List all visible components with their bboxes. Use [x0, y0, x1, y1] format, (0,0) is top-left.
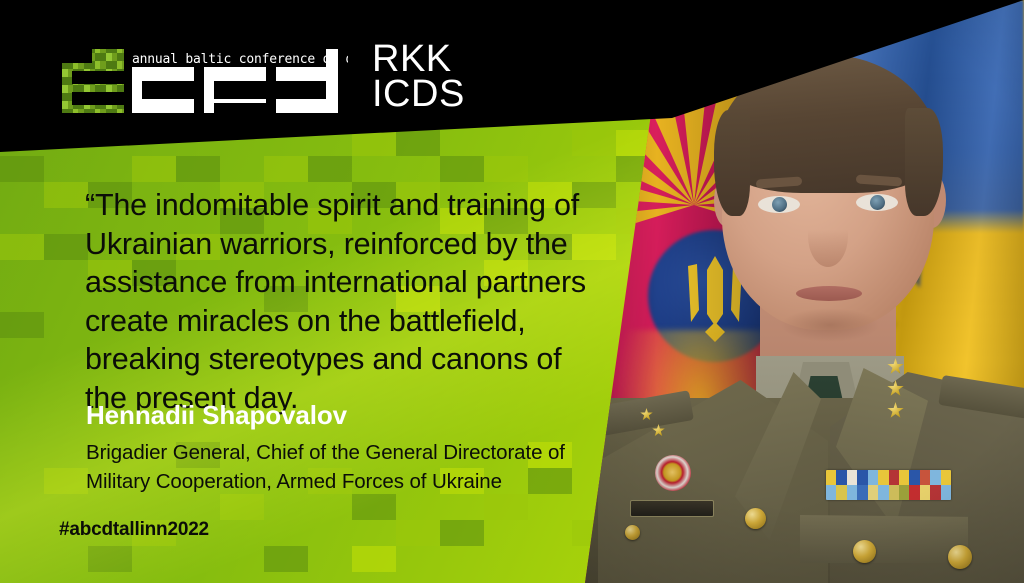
logo-lockup: annual baltic conference on defence RKK … — [62, 42, 465, 113]
event-hashtag: #abcdtallinn2022 — [59, 519, 209, 541]
logo-tagline: annual baltic conference on defence — [132, 52, 348, 67]
rkk-icds-logo: RKK ICDS — [372, 42, 465, 113]
abcd-logo: annual baltic conference on defence — [62, 45, 348, 113]
speaker-name: Hennadii Shapovalov — [86, 400, 347, 431]
logo-letters-bcd — [132, 67, 338, 113]
quote-card: annual baltic conference on defence RKK … — [0, 0, 1024, 583]
logo-letter-a — [62, 49, 124, 113]
quote-text: “The indomitable spirit and training of … — [85, 186, 605, 417]
icds-line: ICDS — [372, 77, 465, 112]
abcd-logo-mark: annual baltic conference on defence — [62, 45, 348, 113]
speaker-title: Brigadier General, Chief of the General … — [86, 438, 606, 496]
rkk-line: RKK — [372, 42, 465, 77]
